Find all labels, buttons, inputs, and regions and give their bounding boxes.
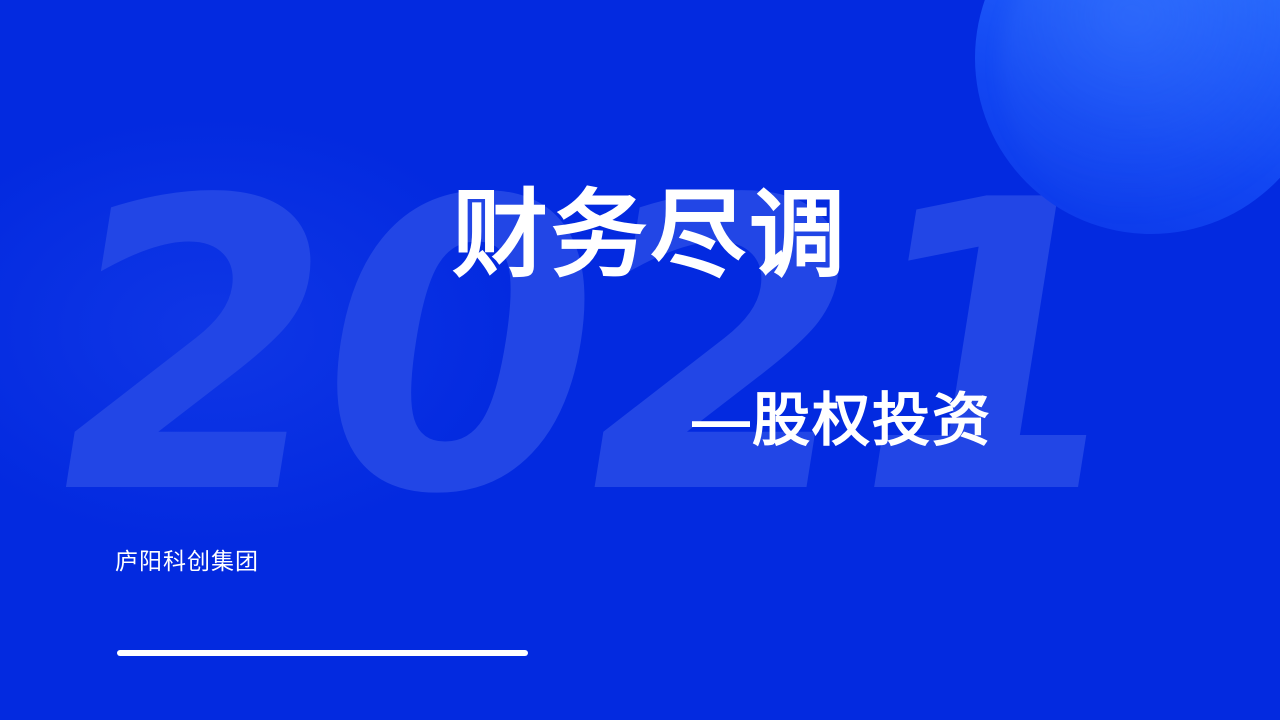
title-block: 财务尽调 xyxy=(0,188,848,284)
title-slide: 2021 财务尽调 —股权投资 庐阳科创集团 xyxy=(0,0,1280,720)
page-title: 财务尽调 xyxy=(0,188,848,284)
page-subtitle: —股权投资 xyxy=(0,391,992,452)
subtitle-block: —股权投资 xyxy=(0,391,992,452)
slide-content: 财务尽调 —股权投资 庐阳科创集团 xyxy=(0,0,1280,720)
organization-name: 庐阳科创集团 xyxy=(115,548,259,576)
divider-rule xyxy=(117,650,528,656)
